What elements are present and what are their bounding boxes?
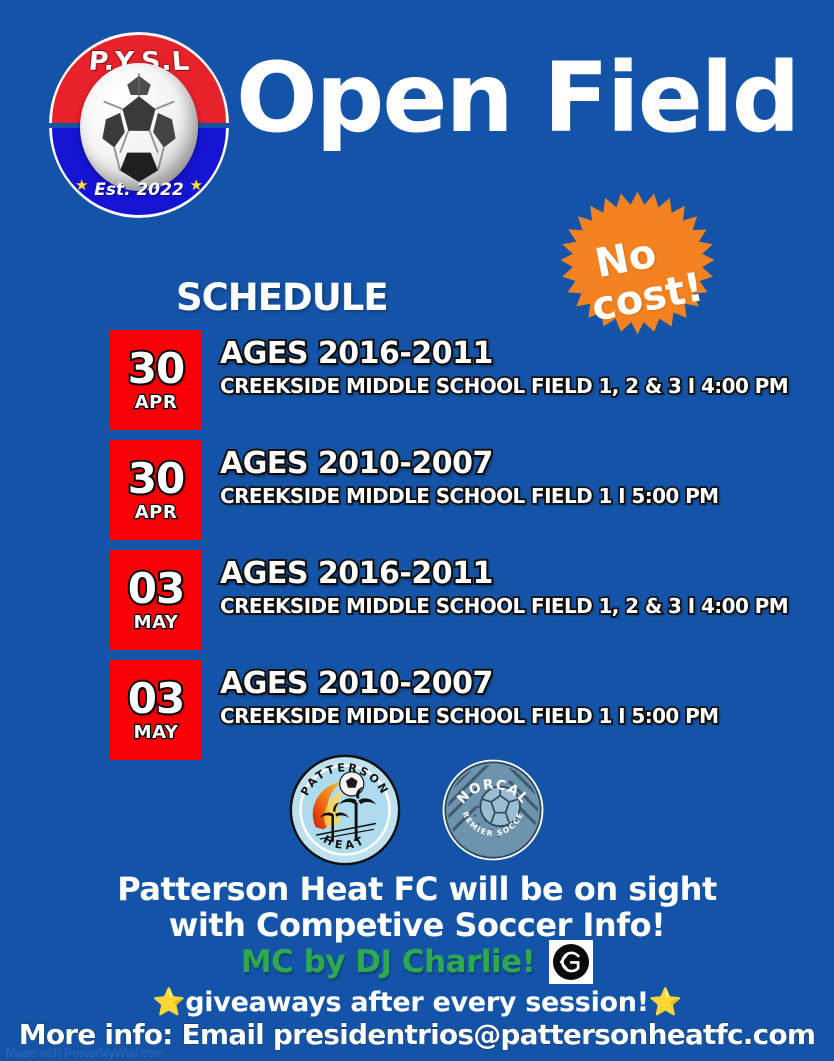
giveaways-label: giveaways after every session! <box>185 987 648 1018</box>
partner-logos: PATTERSON HEAT <box>0 752 834 868</box>
mc-label: MC by DJ Charlie! <box>241 944 536 980</box>
open-field-flyer: P.Y.S.L ★ ★ Est. 2022 Open Field <box>0 0 834 1061</box>
date-day: 30 <box>128 459 184 499</box>
postermywall-watermark: Made with PosterMyWall.com <box>6 1046 164 1060</box>
schedule-row: 30 APR AGES 2016-2011 CREEKSIDE MIDDLE S… <box>110 330 810 435</box>
giveaways-text: ⭐giveaways after every session!⭐ <box>0 986 834 1018</box>
announcement-line-2: with Competive Soccer Info! <box>0 908 834 944</box>
schedule-heading: SCHEDULE <box>176 276 388 319</box>
schedule-row: 03 MAY AGES 2016-2011 CREEKSIDE MIDDLE S… <box>110 550 810 655</box>
soccer-ball-icon <box>80 63 198 191</box>
patterson-heat-logo: PATTERSON HEAT <box>287 752 403 868</box>
date-badge: 03 MAY <box>110 550 202 650</box>
date-month: MAY <box>134 722 179 743</box>
age-group-label: AGES 2010-2007 <box>220 666 718 701</box>
norcal-premier-soccer-logo: NORCAL PREMIER SOCCER <box>439 756 547 864</box>
announcement-text: Patterson Heat FC will be on sight with … <box>0 872 834 944</box>
schedule-row: 30 APR AGES 2010-2007 CREEKSIDE MIDDLE S… <box>110 440 810 545</box>
mc-line: MC by DJ Charlie! <box>0 940 834 984</box>
schedule-row-text: AGES 2016-2011 CREEKSIDE MIDDLE SCHOOL F… <box>220 556 788 618</box>
dj-charlie-g-logo-icon <box>549 940 593 984</box>
date-badge: 03 MAY <box>110 660 202 760</box>
star-right-icon: ⭐ <box>649 987 682 1018</box>
date-month: MAY <box>134 612 179 633</box>
date-day: 03 <box>128 569 184 609</box>
age-group-label: AGES 2010-2007 <box>220 446 718 481</box>
date-month: APR <box>135 502 177 523</box>
date-badge: 30 APR <box>110 440 202 540</box>
age-group-label: AGES 2016-2011 <box>220 556 788 591</box>
star-left-icon: ⭐ <box>152 987 185 1018</box>
venue-time-label: CREEKSIDE MIDDLE SCHOOL FIELD 1 I 5:00 P… <box>220 704 718 728</box>
announcement-line-1: Patterson Heat FC will be on sight <box>0 872 834 908</box>
age-group-label: AGES 2016-2011 <box>220 336 788 371</box>
page-title: Open Field <box>236 50 798 146</box>
venue-time-label: CREEKSIDE MIDDLE SCHOOL FIELD 1 I 5:00 P… <box>220 484 718 508</box>
date-day: 30 <box>128 349 184 389</box>
schedule-row-text: AGES 2010-2007 CREEKSIDE MIDDLE SCHOOL F… <box>220 446 718 508</box>
schedule-row-text: AGES 2010-2007 CREEKSIDE MIDDLE SCHOOL F… <box>220 666 718 728</box>
venue-time-label: CREEKSIDE MIDDLE SCHOOL FIELD 1, 2 & 3 I… <box>220 374 788 398</box>
schedule-row-text: AGES 2016-2011 CREEKSIDE MIDDLE SCHOOL F… <box>220 336 788 398</box>
date-day: 03 <box>128 679 184 719</box>
pysl-logo: P.Y.S.L ★ ★ Est. 2022 <box>49 32 229 218</box>
schedule-row: 03 MAY AGES 2010-2007 CREEKSIDE MIDDLE S… <box>110 660 810 765</box>
pysl-logo-bottom-text: Est. 2022 <box>49 180 229 200</box>
venue-time-label: CREEKSIDE MIDDLE SCHOOL FIELD 1, 2 & 3 I… <box>220 594 788 618</box>
date-badge: 30 APR <box>110 330 202 430</box>
date-month: APR <box>135 392 177 413</box>
schedule-list: 30 APR AGES 2016-2011 CREEKSIDE MIDDLE S… <box>110 330 810 770</box>
